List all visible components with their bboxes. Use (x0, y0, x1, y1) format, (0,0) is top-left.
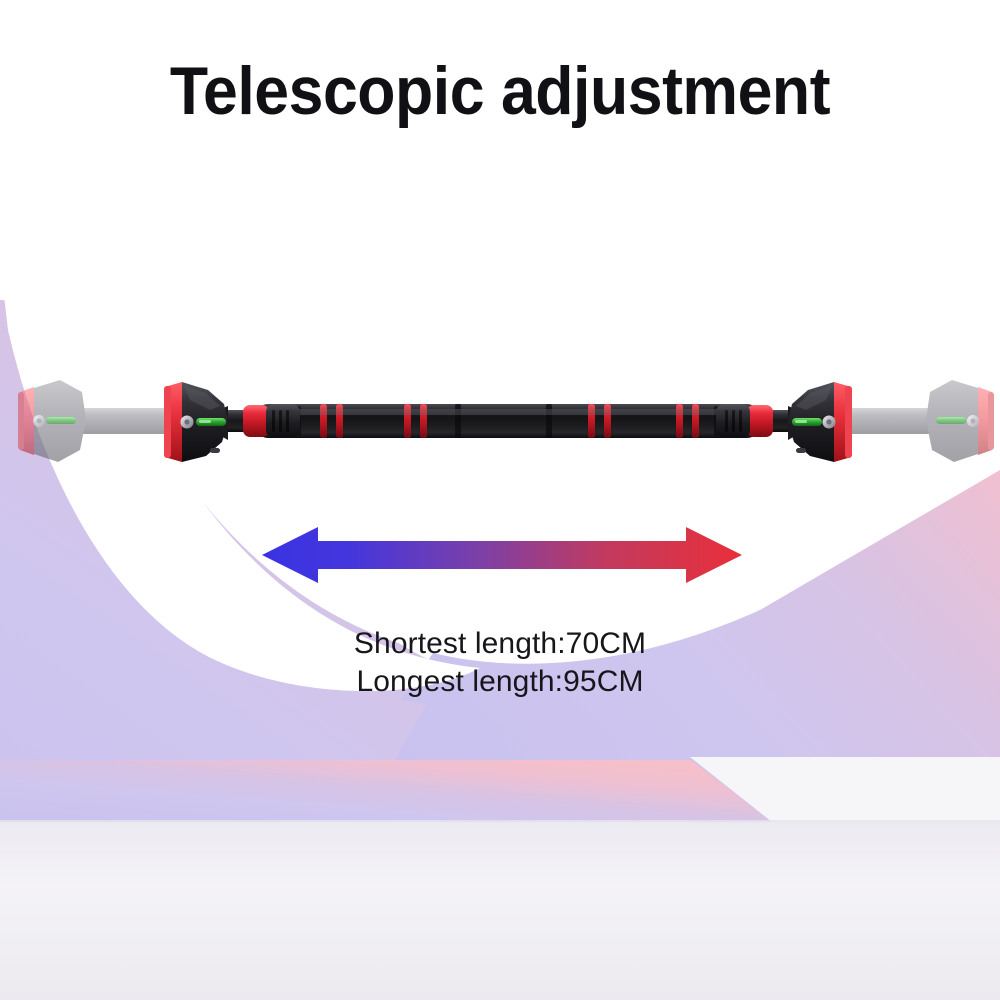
telescopic-range-arrow (0, 0, 1000, 1000)
page-title: Telescopic adjustment (40, 52, 960, 130)
product-poster: Telescopic adjustment (0, 0, 1000, 1000)
caption-line-shortest: Shortest length:70CM (0, 625, 1000, 663)
length-caption: Shortest length:70CM Longest length:95CM (0, 625, 1000, 701)
caption-line-longest: Longest length:95CM (0, 663, 1000, 701)
